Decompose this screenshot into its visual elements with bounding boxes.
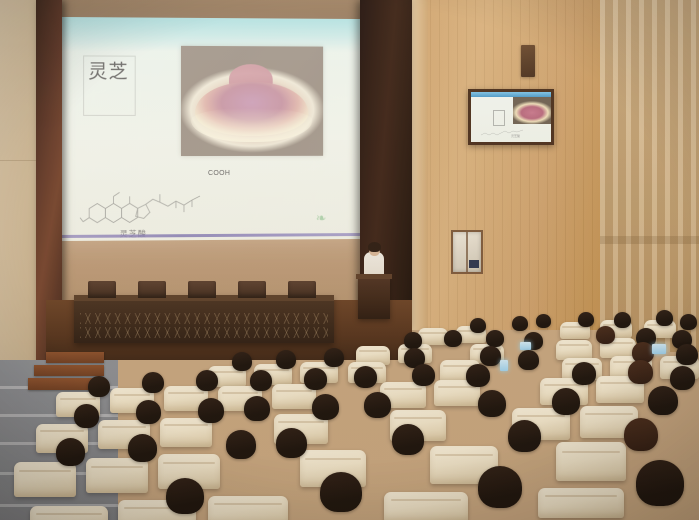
curtain-hem	[600, 236, 699, 244]
audience-head	[536, 314, 551, 328]
audience-head	[244, 396, 270, 421]
audience-head	[196, 370, 218, 391]
audience-head	[676, 344, 698, 365]
audience-head	[74, 404, 99, 428]
head-table-chair	[238, 281, 266, 298]
audience	[0, 300, 699, 520]
audience-head	[364, 392, 391, 418]
head-table-chair	[188, 281, 216, 298]
head-table-chair	[138, 281, 166, 298]
audience-head	[478, 390, 506, 417]
audience-head	[276, 350, 296, 369]
audience-head	[466, 364, 490, 387]
audience-head	[392, 424, 424, 455]
audience-head	[324, 348, 344, 367]
phone-screen[interactable]	[520, 342, 531, 350]
audience-head	[250, 370, 272, 391]
audience-head	[470, 318, 486, 333]
slide-title: 灵芝	[88, 61, 128, 83]
seat	[86, 458, 148, 493]
audience-head	[624, 418, 658, 451]
audience-head	[596, 326, 615, 344]
audience-head	[508, 420, 541, 452]
presenter-hair	[368, 242, 381, 252]
head-table-chair	[288, 281, 316, 298]
audience-head	[486, 330, 504, 347]
seat	[556, 442, 626, 481]
audience-head	[656, 310, 673, 326]
audience-head	[142, 372, 164, 393]
audience-head	[572, 362, 596, 385]
seat	[208, 496, 288, 520]
audience-head	[128, 434, 157, 462]
audience-head	[552, 388, 580, 415]
audience-head	[628, 360, 653, 384]
audience-head	[304, 368, 327, 390]
projection-screen: 灵芝	[55, 17, 363, 241]
projector-washout-overlay	[181, 46, 323, 156]
audience-head	[88, 376, 110, 397]
seat	[384, 492, 468, 520]
audience-head	[412, 364, 435, 386]
niche-device	[469, 260, 479, 268]
audience-head	[136, 400, 161, 424]
audience-head	[478, 466, 522, 508]
audience-head	[320, 472, 362, 512]
monitor-structure-icon	[479, 128, 529, 138]
phone-screen[interactable]	[500, 360, 508, 371]
lecture-hall-photo: 灵芝酸 灵芝	[0, 0, 699, 520]
seat	[14, 462, 76, 497]
slide-accent-line	[55, 233, 363, 238]
audience-head	[198, 398, 224, 423]
audience-head	[404, 332, 422, 349]
audience-head	[648, 386, 678, 415]
slide-mushroom-photo	[181, 46, 323, 156]
wood-wall-edge	[412, 0, 428, 330]
audience-head	[166, 478, 204, 514]
wall-niche	[451, 230, 483, 274]
chemical-structure-icon	[79, 168, 210, 227]
phone-screen[interactable]	[652, 344, 666, 354]
audience-head	[636, 460, 684, 506]
audience-head	[56, 438, 85, 466]
audience-head	[276, 428, 307, 458]
seat	[30, 506, 108, 520]
audience-head	[312, 394, 339, 420]
audience-head	[480, 346, 501, 366]
audience-head	[578, 312, 594, 327]
seat	[556, 340, 592, 360]
audience-head	[232, 352, 252, 371]
niche-divider	[466, 232, 468, 272]
audience-head	[444, 330, 462, 347]
audience-head	[512, 316, 528, 331]
monitor-title-box	[493, 110, 505, 126]
head-table-chair	[88, 281, 116, 298]
audience-head	[354, 366, 377, 388]
monitor-mushroom-photo	[513, 97, 551, 124]
seat	[538, 488, 624, 518]
audience-head	[670, 366, 695, 390]
lectern-top	[356, 274, 392, 279]
audience-head	[680, 314, 697, 330]
auxiliary-monitor[interactable]: 灵芝酸	[468, 89, 554, 145]
slide-formula-label: COOH	[208, 170, 230, 177]
audience-head	[518, 350, 539, 370]
ceiling-speaker-icon	[521, 45, 535, 77]
slide-logo-icon: ❧	[308, 205, 334, 231]
audience-head	[226, 430, 256, 459]
audience-head	[614, 312, 631, 328]
monitor-caption: 灵芝酸	[511, 134, 520, 138]
